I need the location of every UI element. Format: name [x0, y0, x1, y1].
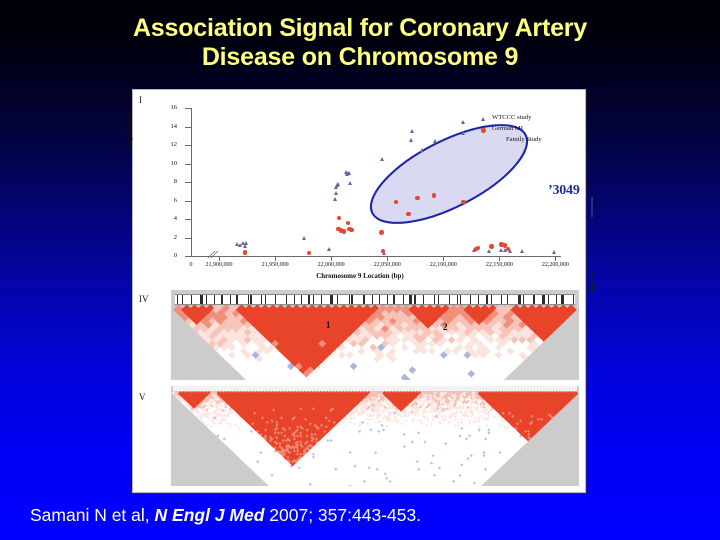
snp-tick: [177, 295, 178, 304]
x-tick-label: 22,150,000: [469, 262, 529, 268]
y-tick-label: 10: [137, 160, 177, 167]
snp-tick: [523, 295, 524, 304]
snp-tick: [470, 295, 471, 304]
scatter-point-german-mi: [337, 216, 341, 220]
snp-tick: [191, 295, 192, 304]
snp-tick: [337, 295, 338, 304]
x-tick: [387, 257, 388, 261]
scatter-point-german-mi: [415, 196, 419, 200]
y-tick-label: 14: [137, 123, 177, 130]
legend-item-wtccc: WTCCC study: [481, 114, 586, 124]
slide-title: Association Signal for Coronary Artery D…: [0, 14, 720, 72]
scatter-point-wtccc: [336, 182, 340, 186]
scatter-point-german-mi: [379, 230, 383, 234]
snp-tick: [438, 295, 439, 304]
snp-tick: [556, 295, 557, 304]
snp-tick: [236, 295, 237, 304]
legend-label-german-mi-2: Family Study: [506, 136, 542, 143]
arrow-down-icon-bottom: [588, 271, 596, 293]
y-tick-label: 0: [137, 252, 177, 259]
snp-tick: [542, 295, 544, 304]
snp-tick: [561, 295, 563, 304]
snp-tick: [363, 295, 364, 304]
x-tick-label: 22,000,000: [301, 262, 361, 268]
scatter-point-german-mi: [307, 251, 311, 255]
snp-tick: [250, 295, 251, 304]
y-tick-label: 16: [137, 104, 177, 111]
snp-tick: [330, 295, 332, 304]
scatter-point-wtccc: [433, 139, 437, 143]
x-tick-label: 22,100,000: [413, 262, 473, 268]
snp-tick: [294, 295, 295, 304]
snp-tick: [313, 295, 314, 304]
snp-tick: [248, 295, 249, 304]
scatter-point-wtccc: [410, 129, 414, 133]
ld-heatmap-V: [171, 386, 579, 486]
snp-tick: [533, 295, 535, 304]
x-tick: [499, 257, 500, 261]
snp-tick: [351, 295, 352, 304]
x-tick: [443, 257, 444, 261]
scatter-point-german-mi: [394, 200, 398, 204]
scatter-point-wtccc: [520, 249, 524, 253]
scatter-point-wtccc: [244, 241, 248, 245]
scatter-point-wtccc: [333, 197, 337, 201]
x-tick: [331, 257, 332, 261]
y-axis-label: –Log P value: [125, 52, 133, 152]
snp-tick: [214, 295, 215, 304]
snp-tick: [286, 295, 287, 304]
snp-tick: [349, 295, 350, 304]
figure-panel: I –Log P value 0246810121416 021,900,000…: [132, 89, 586, 493]
ld-heatmap-V-canvas: [171, 386, 579, 486]
snp-tick: [393, 295, 394, 304]
snp-tick: [301, 295, 302, 304]
scatter-point-german-mi: [406, 212, 410, 216]
snp-3049-label: ’3049: [548, 183, 580, 199]
scatter-point-german-mi: [342, 229, 346, 233]
scatter-point-wtccc: [461, 120, 465, 124]
snp-tick: [182, 295, 183, 304]
x-tick: [555, 257, 556, 261]
snp-position-bar-IV: [175, 294, 575, 305]
x-tick-label: 22,200,000: [525, 262, 585, 268]
scatter-point-wtccc: [348, 181, 352, 185]
snp-tick: [573, 295, 574, 304]
snp-tick: [308, 295, 310, 304]
scatter-point-wtccc: [347, 171, 351, 175]
snp-tick: [372, 295, 373, 304]
ld-heatmap-IV: 1 2: [171, 290, 579, 380]
snp-tick: [449, 295, 450, 304]
ld-block-label-1: 1: [326, 320, 331, 330]
scatter-point-wtccc: [420, 148, 424, 152]
snp-tick: [275, 295, 276, 304]
y-tick-label: 12: [137, 141, 177, 148]
scatter-point-wtccc: [461, 131, 465, 135]
x-tick-label: 21,950,000: [245, 262, 305, 268]
snp-tick: [403, 295, 404, 304]
snp-tick: [206, 295, 207, 304]
panel-V-ld: V: [133, 384, 587, 492]
triangle-marker-icon: [481, 117, 485, 121]
snp-tick: [423, 295, 424, 304]
x-tick: [219, 257, 220, 261]
x-tick: [275, 257, 276, 261]
scatter-point-wtccc: [334, 191, 338, 195]
legend-item-german-mi-line2: Family Study: [481, 136, 586, 146]
scatter-point-wtccc: [409, 138, 413, 142]
snp-tick: [491, 295, 492, 304]
legend-label-wtccc: WTCCC study: [492, 114, 531, 121]
slide-title-line-2: Disease on Chromosome 9: [0, 43, 720, 72]
x-axis-label: Chromosome 9 Location (bp): [133, 272, 587, 280]
y-tick-label: 6: [137, 197, 177, 204]
circle-marker-icon: [481, 128, 486, 133]
scatter-point-wtccc: [327, 247, 331, 251]
snp-tick: [230, 295, 231, 304]
legend-item-german-mi: German MI: [481, 125, 586, 135]
y-tick: [185, 256, 191, 257]
snp-tick: [478, 295, 479, 304]
panel-I-scatter: I –Log P value 0246810121416 021,900,000…: [133, 90, 587, 288]
panel-IV-ld: IV 1 2: [133, 288, 587, 384]
snp-tick: [457, 295, 458, 304]
panel-tag-V: V: [139, 392, 146, 402]
snp-tick: [460, 295, 461, 304]
snp-tick: [507, 295, 508, 304]
y-tick-label: 8: [137, 178, 177, 185]
scatter-point-german-mi: [432, 193, 436, 197]
snp-tick: [221, 295, 222, 304]
y-tick-label: 2: [137, 234, 177, 241]
scatter-point-wtccc: [487, 249, 491, 253]
x-tick-label: 22,050,000: [357, 262, 417, 268]
slide-title-line-1: Association Signal for Coronary Artery: [133, 14, 587, 42]
snp-tick: [409, 295, 411, 304]
scatter-point-wtccc: [380, 157, 384, 161]
ld-block-label-2: 2: [443, 322, 448, 332]
snp-tick: [548, 295, 549, 304]
snp-tick: [321, 295, 322, 304]
chart-legend: WTCCC study German MI Family Study: [481, 114, 586, 147]
y-tick-label: 4: [137, 215, 177, 222]
scatter-point-german-mi: [243, 250, 247, 254]
legend-label-german-mi: German MI: [492, 125, 523, 132]
scatter-point-wtccc: [499, 248, 503, 252]
snp-tick: [261, 295, 262, 304]
snp-tick: [265, 295, 266, 304]
x-tick-label: 21,900,000: [189, 262, 249, 268]
scatter-point-german-mi: [346, 221, 350, 225]
scatter-point-german-mi: [461, 200, 465, 204]
scatter-point-wtccc: [302, 236, 306, 240]
snp-tick: [379, 295, 380, 304]
snp-tick: [486, 295, 487, 304]
snp-tick: [414, 295, 415, 304]
x-axis-line: [191, 256, 561, 257]
snp-tick: [518, 295, 520, 304]
snp-tick: [387, 295, 388, 304]
snp-tick: [200, 295, 202, 304]
arrow-down-icon-top: [588, 197, 596, 221]
scatter-point-wtccc: [552, 250, 556, 254]
scatter-point-german-mi: [349, 228, 353, 232]
panel-tag-IV: IV: [139, 294, 149, 304]
snp-tick: [501, 295, 502, 304]
snp-tick: [434, 295, 435, 304]
scatter-point-german-mi: [489, 244, 493, 248]
